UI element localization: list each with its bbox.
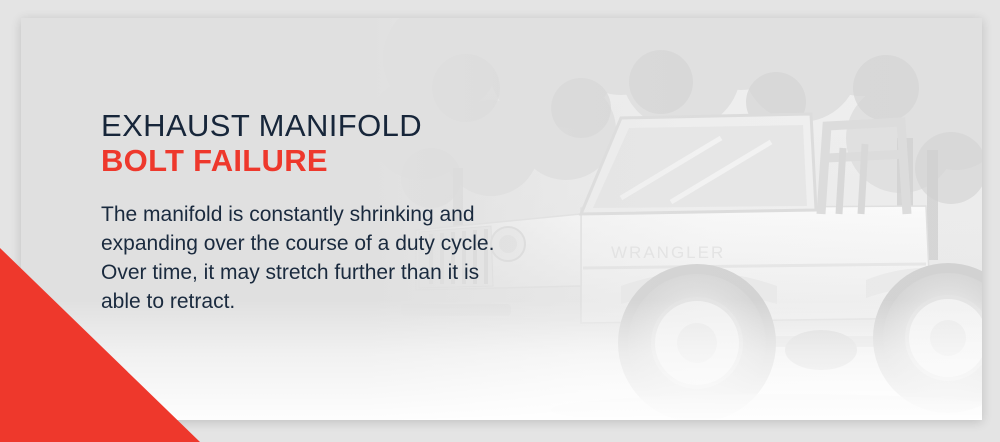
- body-line: The manifold is constantly shrinking and: [101, 200, 501, 229]
- page-title-line-1: EXHAUST MANIFOLD: [101, 108, 521, 144]
- photo-bottom-fade: [21, 300, 982, 420]
- page-title-line-2: BOLT FAILURE: [101, 144, 521, 178]
- body-line: able to retract.: [101, 287, 501, 316]
- body-paragraph: The manifold is constantly shrinking and…: [101, 178, 501, 316]
- body-line: expanding over the course of a duty cycl…: [101, 229, 501, 258]
- body-line: Over time, it may stretch further than i…: [101, 258, 501, 287]
- text-block: EXHAUST MANIFOLD BOLT FAILURE The manifo…: [101, 108, 521, 316]
- infographic-panel: Jeep WRANGLER: [0, 0, 1000, 442]
- content-card: Jeep WRANGLER: [21, 18, 982, 420]
